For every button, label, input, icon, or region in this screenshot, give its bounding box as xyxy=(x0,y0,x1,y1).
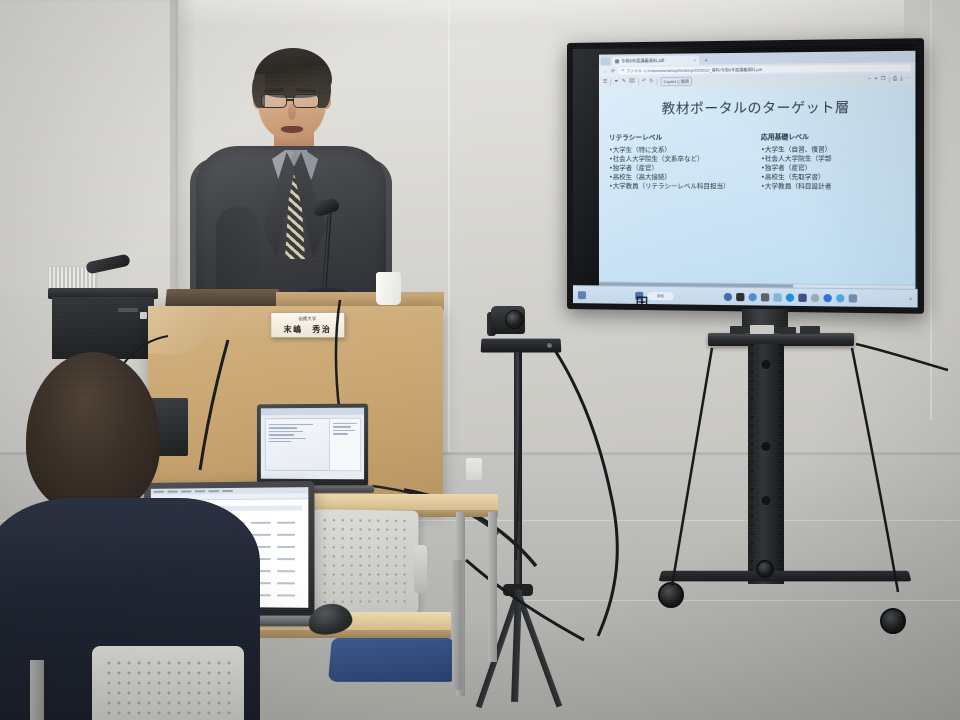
menu-item[interactable] xyxy=(167,491,178,493)
table-row xyxy=(277,558,295,560)
settings-icon[interactable] xyxy=(836,294,844,302)
slide-bullet: 大学教員（科目設計者 xyxy=(761,182,905,192)
chair-support-post xyxy=(30,660,44,720)
rotate-icon[interactable]: ↻ xyxy=(649,79,653,84)
shelf-device xyxy=(778,327,796,334)
slide-bullet: 社会人大学院生（学部 xyxy=(761,154,905,164)
table-row xyxy=(251,534,271,536)
slide-bullet: 大学教員（リテラシーレベル科目担当） xyxy=(609,182,749,191)
desk-leg xyxy=(488,512,497,662)
caster-wheel xyxy=(658,582,684,608)
cart-rivets xyxy=(751,344,753,584)
toolbar-divider xyxy=(638,79,639,85)
undo-icon[interactable]: ↶ xyxy=(642,79,646,84)
windows-taskbar[interactable]: ⊞ 検索 ∧ xyxy=(573,285,918,307)
toolbar-divider xyxy=(610,79,611,85)
taskbar-search[interactable]: 検索 xyxy=(647,291,673,299)
table-row xyxy=(277,570,295,572)
equipment-cart-slot xyxy=(118,308,138,312)
camera-lens-icon xyxy=(505,310,524,329)
cart-bolt xyxy=(762,442,771,451)
laptop-titlebar xyxy=(261,408,364,416)
eyeglasses-icon xyxy=(293,94,319,108)
teams-icon[interactable] xyxy=(798,293,806,301)
nameplate-organization: 函館大学 xyxy=(271,316,344,322)
tripod-mast xyxy=(514,352,522,590)
slide-bullet: 大学生（特に文系） xyxy=(609,145,749,155)
caster-wheel xyxy=(756,560,774,578)
presenter-nose xyxy=(288,104,296,120)
notification-icon[interactable] xyxy=(578,291,586,299)
menu-item[interactable] xyxy=(208,490,219,492)
table-row xyxy=(251,522,271,524)
toolbar-divider xyxy=(889,76,890,82)
laptop-slide-preview xyxy=(265,418,330,471)
wall-seam xyxy=(930,0,932,420)
presenter-mouth xyxy=(281,126,303,133)
lecture-room-photo: 令和6年度講義資料.pdf × + ← ⟳ 🗎 ファイル C:/Users/wo… xyxy=(0,0,960,720)
wall-seam xyxy=(448,0,450,458)
left-wall-section xyxy=(0,0,178,300)
shelf-device xyxy=(750,325,774,334)
zoom-out-icon[interactable]: − xyxy=(868,77,871,82)
cart-base xyxy=(658,571,911,582)
notes-icon[interactable] xyxy=(849,294,857,302)
edge-icon[interactable] xyxy=(786,293,794,301)
file-icon: 🗎 xyxy=(621,68,624,74)
toolbar-spacer xyxy=(695,80,865,82)
taskbar-spacer-mid xyxy=(678,296,720,297)
table-row xyxy=(277,546,295,548)
table-row xyxy=(277,582,295,584)
display-bezel: 令和6年度講義資料.pdf × + ← ⟳ 🗎 ファイル C:/Users/wo… xyxy=(573,44,918,307)
chevron-up-icon[interactable]: ∧ xyxy=(909,296,912,301)
chrome-icon[interactable] xyxy=(823,293,831,301)
highlight-icon[interactable]: ✒ xyxy=(615,79,619,84)
toolbar-divider xyxy=(656,79,657,85)
zoom-icon[interactable] xyxy=(811,293,819,301)
slide-column-heading: リテラシーレベル xyxy=(609,131,749,142)
table-row xyxy=(277,594,295,596)
zoom-in-icon[interactable]: + xyxy=(874,77,877,82)
laptop-meeting-panel xyxy=(329,418,361,471)
paper-cup xyxy=(376,272,401,305)
slide-bullet: 高校生（先取学習） xyxy=(761,173,905,183)
camera-base-plate xyxy=(481,339,562,353)
mail-icon[interactable] xyxy=(773,293,781,301)
large-format-display[interactable]: 令和6年度講義資料.pdf × + ← ⟳ 🗎 ファイル C:/Users/wo… xyxy=(567,38,924,314)
close-icon[interactable]: × xyxy=(694,57,696,62)
desk-foreground-edge xyxy=(246,630,451,638)
menu-item[interactable] xyxy=(222,490,233,492)
slide-title: 教材ポータルのターゲット層 xyxy=(599,95,915,118)
refresh-icon[interactable] xyxy=(749,293,757,301)
taskbar-spacer-right xyxy=(861,298,904,299)
cart-column xyxy=(748,344,784,584)
menu-item[interactable] xyxy=(195,490,206,492)
store-icon[interactable] xyxy=(761,293,769,301)
slide-column-heading: 応用基礎レベル xyxy=(761,130,905,141)
podium-front-curve xyxy=(148,306,248,354)
browser-window[interactable]: 令和6年度講義資料.pdf × + ← ⟳ 🗎 ファイル C:/Users/wo… xyxy=(599,51,915,289)
menu-item[interactable] xyxy=(154,491,165,493)
eyeglasses-icon xyxy=(261,94,287,108)
shelf-device xyxy=(730,326,746,334)
cart-shelf-equipment xyxy=(726,325,822,335)
slide-bullet: 高校生（高大接続） xyxy=(609,173,749,182)
chair-armrest xyxy=(414,545,427,593)
copilot-button[interactable]: Copilot に質問 xyxy=(661,77,692,86)
browser-tab-title: 令和6年度講義資料.pdf xyxy=(621,57,664,64)
start-icon[interactable]: ⊞ xyxy=(635,291,643,299)
cart-rivets xyxy=(779,344,781,584)
equipment-cart-body xyxy=(52,297,154,359)
wall-outlet xyxy=(466,458,482,480)
pdf-slide-page: 教材ポータルのターゲット層 リテラシーレベル 大学生（特に文系） 社会人大学院生… xyxy=(599,85,915,285)
security-label: ファイル xyxy=(626,68,642,74)
chair-backrest[interactable] xyxy=(312,509,418,614)
podium-top-ledge xyxy=(165,289,281,307)
nameplate: 函館大学 末嶋 秀治 xyxy=(270,312,345,338)
back-icon[interactable]: ← xyxy=(603,68,608,74)
pdf-favicon-icon xyxy=(615,59,619,63)
weather-icon[interactable] xyxy=(724,292,732,300)
nameplate-person-name: 末嶋 秀治 xyxy=(271,323,344,334)
slide-bullet: 大学生（自習、復習） xyxy=(761,144,905,154)
laptop-presenter-screen xyxy=(261,408,364,480)
erase-icon[interactable]: ⌧ xyxy=(629,79,635,84)
chair-seat[interactable] xyxy=(328,637,458,681)
caster-wheel xyxy=(880,608,906,634)
slide-bullet: 独学者（産官） xyxy=(609,164,749,173)
more-options-icon[interactable]: ⋯ xyxy=(906,77,911,82)
floor-seam xyxy=(520,600,960,601)
shelf-device xyxy=(800,326,820,334)
slide-bullet: 社会人大学院生（文系卒など） xyxy=(609,154,749,164)
equipment-cart-button[interactable] xyxy=(140,312,147,319)
draw-icon[interactable]: ✎ xyxy=(622,79,626,84)
cart-bolt xyxy=(762,360,771,369)
file-explorer-icon[interactable] xyxy=(736,292,744,300)
slide-bullet: 独学者（産官） xyxy=(761,163,905,173)
laptop-presenter[interactable] xyxy=(257,404,368,487)
save-icon[interactable]: ⤓ xyxy=(900,77,902,82)
tab-list-icon[interactable] xyxy=(601,57,610,65)
menu-item[interactable] xyxy=(181,490,192,492)
chair-perforation-pattern xyxy=(320,515,409,604)
slide-column-literacy: リテラシーレベル 大学生（特に文系） 社会人大学院生（文系卒など） 独学者（産官… xyxy=(609,131,749,192)
slide-columns: リテラシーレベル 大学生（特に文系） 社会人大学院生（文系卒など） 独学者（産官… xyxy=(599,130,915,192)
table-row xyxy=(277,534,295,536)
url-text: C:/Users/workshop/Desktop/2025/12/_資料/令和… xyxy=(644,66,762,73)
refresh-icon[interactable]: ⟳ xyxy=(611,68,615,74)
camera-indicator-led xyxy=(547,343,552,348)
chair-support-post xyxy=(452,560,462,690)
fit-page-icon[interactable]: ❐ xyxy=(881,77,886,82)
print-icon[interactable]: ⎙ xyxy=(893,77,897,82)
slide-column-applied: 応用基礎レベル 大学生（自習、復習） 社会人大学院生（学部 独学者（産官） 高校… xyxy=(761,130,905,192)
cart-bolt xyxy=(762,496,771,505)
chair-perforation-pattern xyxy=(104,658,232,720)
eyeglasses-bridge xyxy=(287,99,294,101)
page-fit-icon[interactable]: ☰ xyxy=(603,80,608,85)
table-row xyxy=(277,522,295,524)
